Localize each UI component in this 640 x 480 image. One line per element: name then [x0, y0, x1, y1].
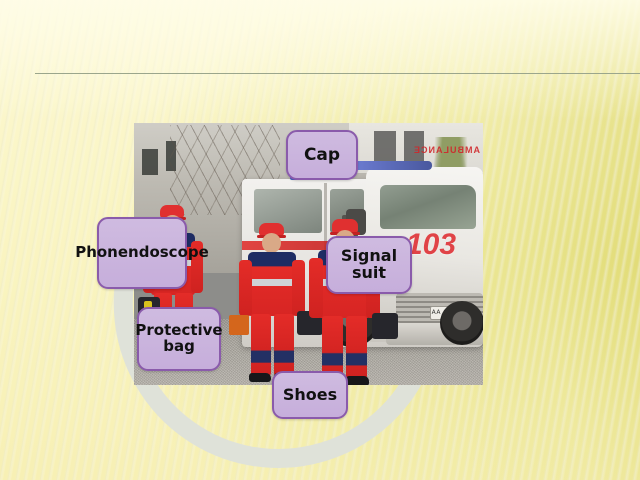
leg-right — [346, 316, 367, 379]
leg-left — [251, 314, 271, 376]
label-cap-text: Cap — [304, 146, 340, 164]
label-phonendoscope[interactable]: Phonendoscope — [97, 217, 187, 289]
arm-left — [309, 258, 323, 318]
ambulance-light-bar — [346, 161, 432, 170]
arm-left — [239, 260, 252, 316]
ambulance-windshield — [380, 185, 476, 229]
window-balcony-1 — [142, 149, 158, 175]
label-cap[interactable]: Cap — [286, 130, 358, 180]
protective-bag — [372, 313, 398, 339]
head — [262, 233, 281, 253]
label-shoes[interactable]: Shoes — [272, 371, 348, 419]
orange-case — [229, 315, 249, 335]
label-protective-bag[interactable]: Protective bag — [137, 307, 221, 371]
ambulance-front-wheel — [440, 301, 483, 345]
label-signal-suit-text: Signal suit — [328, 248, 410, 282]
leg-right — [274, 314, 294, 376]
label-signal-suit[interactable]: Signal suit — [326, 236, 412, 294]
arm-right — [292, 260, 305, 316]
ambulance-side-text: AMBULANCE — [370, 145, 480, 159]
label-shoes-text: Shoes — [283, 387, 337, 404]
shoe-left — [249, 373, 271, 382]
reflective-stripe — [248, 279, 296, 286]
label-phonendoscope-text: Phonendoscope — [75, 245, 209, 261]
paramedic-middle — [239, 223, 315, 378]
leg-left — [322, 316, 343, 379]
label-protective-bag-text: Protective bag — [135, 323, 222, 355]
slide-canvas: AMBULANCE 103 AA 0123 BB — [0, 0, 640, 480]
shoe-right — [346, 376, 369, 385]
ambulance-number-103: 103 — [406, 228, 456, 262]
